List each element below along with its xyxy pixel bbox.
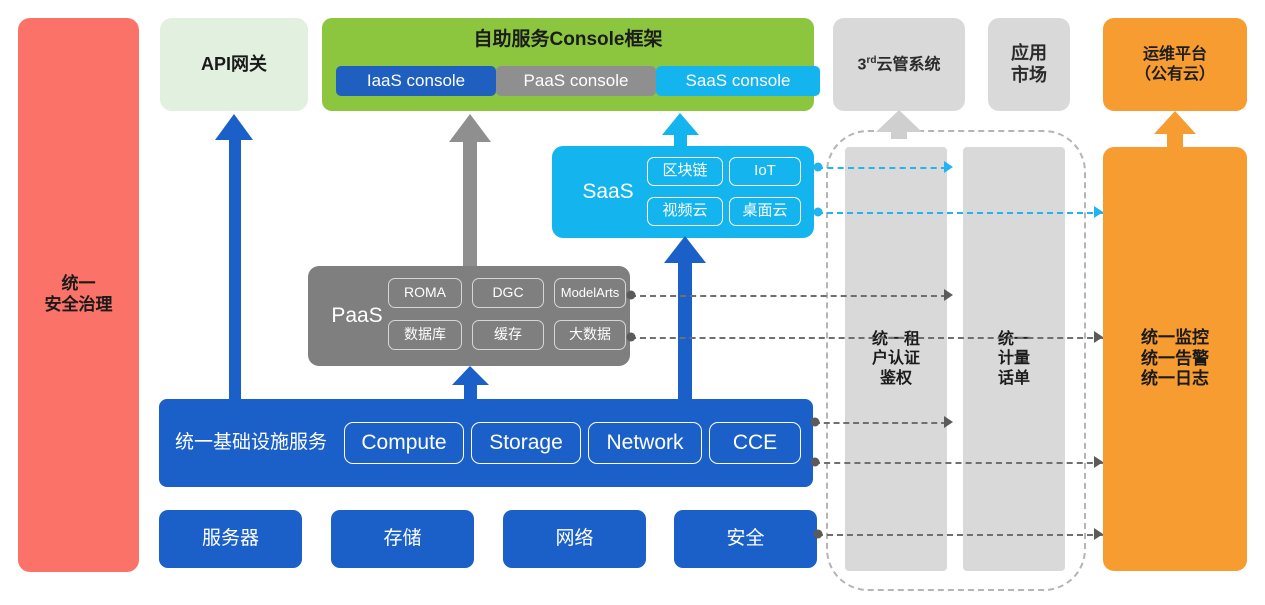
resource-box-storage[interactable]: 存储 bbox=[331, 510, 474, 568]
paas-label: PaaS bbox=[318, 266, 396, 366]
connector-paas-to-auth bbox=[630, 295, 947, 297]
connector-infra-to-ops bbox=[814, 462, 1103, 464]
unified-metering-billing-column[interactable]: 统一 计量 话单 bbox=[963, 147, 1065, 571]
resource-box-network[interactable]: 网络 bbox=[503, 510, 646, 568]
arrowhead-paas-auth bbox=[944, 289, 953, 301]
ops-platform-column[interactable]: 统一监控 统一告警 统一日志 bbox=[1103, 147, 1247, 571]
connector-dot-saas-auth bbox=[814, 163, 823, 172]
security-governance-line2: 安全治理 bbox=[45, 295, 113, 316]
ops-column-line1: 统一监控 bbox=[1141, 328, 1209, 349]
security-governance-line1: 统一 bbox=[45, 274, 113, 295]
arrowhead-infra-auth bbox=[944, 416, 953, 428]
third-party-rest: 云管系统 bbox=[876, 56, 940, 73]
resource-box-security[interactable]: 安全 bbox=[674, 510, 817, 568]
ops-column-line2: 统一告警 bbox=[1141, 349, 1209, 370]
ops-platform-head-line2: （公有云） bbox=[1135, 65, 1215, 85]
saas-chip-iot[interactable]: IoT bbox=[729, 157, 801, 186]
arrow-ops-column-to-ops-head bbox=[1154, 111, 1196, 147]
saas-chip-video-cloud[interactable]: 视频云 bbox=[647, 197, 723, 226]
iaas-console-chip[interactable]: IaaS console bbox=[336, 66, 496, 96]
app-market-box[interactable]: 应用 市场 bbox=[988, 18, 1070, 111]
connector-dot-resources-ops bbox=[814, 530, 823, 539]
arrowhead-resources-ops bbox=[1094, 528, 1103, 540]
infra-chip-compute[interactable]: Compute bbox=[344, 422, 464, 464]
arrowhead-paas-ops bbox=[1094, 331, 1103, 343]
connector-dot-paas-auth bbox=[627, 291, 636, 300]
connector-infra-to-auth bbox=[814, 422, 947, 424]
auth-line2: 户认证 bbox=[872, 349, 920, 369]
third-party-ordinal: rd bbox=[866, 55, 876, 66]
paas-chip-bigdata[interactable]: 大数据 bbox=[554, 320, 626, 350]
resource-label-security: 安全 bbox=[726, 527, 764, 550]
arrowhead-saas-auth bbox=[944, 161, 953, 173]
auth-line3: 鉴权 bbox=[872, 369, 920, 389]
connector-resources-to-ops bbox=[817, 534, 1103, 536]
ops-platform-head-box[interactable]: 运维平台 （公有云） bbox=[1103, 18, 1247, 111]
saas-chip-blockchain[interactable]: 区块链 bbox=[647, 157, 723, 186]
resource-label-network: 网络 bbox=[555, 527, 593, 550]
api-gateway-label: API网关 bbox=[201, 54, 267, 76]
console-framework-box[interactable]: 自助服务Console框架 IaaS console PaaS console … bbox=[322, 18, 814, 111]
infra-chip-cce[interactable]: CCE bbox=[709, 422, 801, 464]
meter-line2: 计量 bbox=[998, 349, 1030, 369]
connector-paas-to-ops bbox=[630, 337, 1103, 339]
meter-line3: 话单 bbox=[998, 369, 1030, 389]
app-market-line1: 应用 bbox=[1011, 43, 1047, 65]
arrowhead-infra-ops bbox=[1094, 456, 1103, 468]
meter-line1: 统一 bbox=[998, 330, 1030, 350]
auth-line1: 统一租 bbox=[872, 330, 920, 350]
paas-box[interactable]: PaaS ROMA DGC ModelArts 数据库 缓存 大数据 bbox=[308, 266, 630, 366]
app-market-line2: 市场 bbox=[1011, 65, 1047, 87]
arrow-infra-to-saas bbox=[664, 236, 706, 399]
resource-label-server: 服务器 bbox=[202, 527, 259, 550]
connector-dot-paas-ops bbox=[627, 333, 636, 342]
saas-box[interactable]: SaaS 区块链 IoT 视频云 桌面云 bbox=[552, 146, 814, 238]
paas-chip-database[interactable]: 数据库 bbox=[388, 320, 462, 350]
paas-console-chip[interactable]: PaaS console bbox=[496, 66, 656, 96]
arrow-infra-to-api-gateway bbox=[215, 114, 253, 399]
infrastructure-label: 统一基础设施服务 bbox=[175, 399, 327, 487]
connector-dot-infra-auth bbox=[811, 418, 820, 427]
api-gateway-box[interactable]: API网关 bbox=[160, 18, 308, 111]
security-governance-column[interactable]: 统一 安全治理 bbox=[18, 18, 139, 572]
infra-chip-network[interactable]: Network bbox=[588, 422, 702, 464]
unified-tenant-auth-column[interactable]: 统一租 户认证 鉴权 bbox=[845, 147, 947, 571]
third-party-cloud-mgmt-box[interactable]: 3rd云管系统 bbox=[833, 18, 965, 111]
arrowhead-saas-ops bbox=[1094, 206, 1103, 218]
resource-label-storage: 存储 bbox=[383, 527, 421, 550]
paas-chip-modelarts[interactable]: ModelArts bbox=[554, 278, 626, 308]
saas-label: SaaS bbox=[566, 146, 650, 238]
arrow-infra-to-paas bbox=[452, 366, 489, 399]
connector-dot-saas-ops bbox=[814, 208, 823, 217]
connector-saas-to-ops bbox=[817, 212, 1103, 214]
paas-chip-cache[interactable]: 缓存 bbox=[472, 320, 544, 350]
console-framework-title: 自助服务Console框架 bbox=[322, 28, 814, 51]
arrow-paas-to-console bbox=[449, 114, 491, 266]
ops-column-line3: 统一日志 bbox=[1141, 369, 1209, 390]
arrow-saas-to-saas-console bbox=[662, 113, 699, 147]
connector-saas-to-auth bbox=[817, 167, 947, 169]
saas-chip-desktop-cloud[interactable]: 桌面云 bbox=[729, 197, 801, 226]
paas-chip-dgc[interactable]: DGC bbox=[472, 278, 544, 308]
connector-dot-infra-ops bbox=[811, 458, 820, 467]
architecture-diagram: 统一 安全治理 API网关 自助服务Console框架 IaaS console… bbox=[0, 0, 1265, 605]
paas-chip-roma[interactable]: ROMA bbox=[388, 278, 462, 308]
infra-chip-storage[interactable]: Storage bbox=[471, 422, 581, 464]
resource-box-server[interactable]: 服务器 bbox=[159, 510, 302, 568]
ops-platform-head-line1: 运维平台 bbox=[1135, 45, 1215, 65]
saas-console-chip[interactable]: SaaS console bbox=[656, 66, 820, 96]
unified-infrastructure-bar[interactable]: 统一基础设施服务 Compute Storage Network CCE bbox=[159, 399, 813, 487]
